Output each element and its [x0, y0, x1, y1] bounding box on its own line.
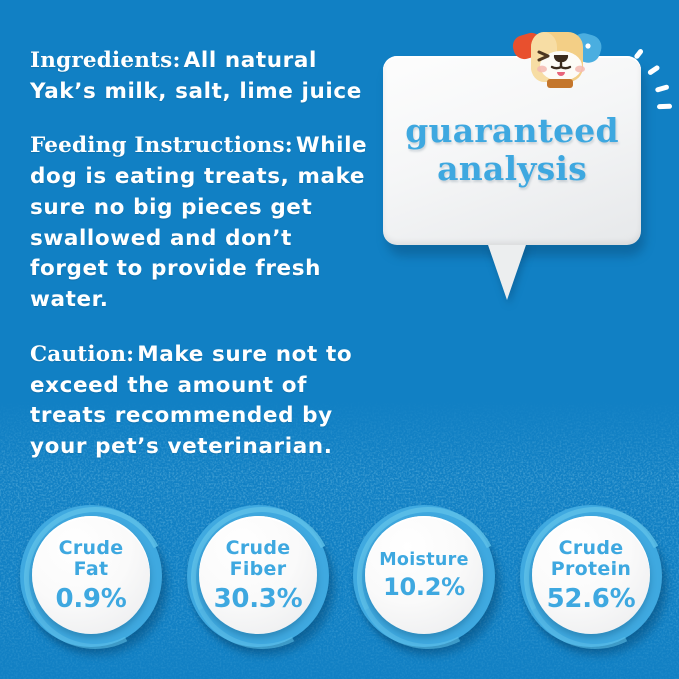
nutrition-circle-crude-fat: Crude Fat 0.9% — [20, 505, 166, 651]
ingredient-copy-column: Ingredients:All natural Yak’s milk, salt… — [30, 46, 370, 463]
ingredients-text: Ingredients:All natural Yak’s milk, salt… — [30, 46, 370, 107]
nutrient-name: Crude Fiber — [226, 538, 291, 579]
bubble-title-line2: analysis — [383, 150, 641, 188]
nutrient-value: 0.9% — [56, 586, 127, 612]
nutrition-circle-crude-fiber: Crude Fiber 30.3% — [187, 505, 333, 651]
nutrition-circle-moisture: Moisture 10.2% — [353, 505, 499, 651]
ingredients-heading: Ingredients: — [30, 48, 181, 73]
nutrition-circle-crude-protein: Crude Protein 52.6% — [520, 505, 666, 651]
feeding-instructions-heading: Feeding Instructions: — [30, 133, 293, 158]
caution-block: Caution:Make sure not to exceed the amou… — [30, 340, 370, 463]
circle-disc: Moisture 10.2% — [365, 516, 483, 634]
nutrient-value: 52.6% — [547, 586, 636, 612]
feeding-instructions-block: Feeding Instructions:While dog is eating… — [30, 131, 370, 315]
sparkle-dashes-icon — [629, 42, 679, 122]
bubble-title-line1: guaranteed — [383, 112, 641, 150]
nutrient-name: Crude Fat — [59, 538, 124, 579]
bubble-title: guaranteed analysis — [383, 112, 641, 189]
nutrient-value: 10.2% — [383, 575, 465, 599]
circle-disc: Crude Protein 52.6% — [532, 516, 650, 634]
guaranteed-analysis-values: Crude Fat 0.9% Crude Fiber 30.3% Moistur… — [0, 505, 679, 655]
bubble-tail — [487, 242, 527, 300]
nutrient-value: 30.3% — [214, 586, 303, 612]
caution-text: Caution:Make sure not to exceed the amou… — [30, 340, 370, 463]
feeding-instructions-body: While dog is eating treats, make sure no… — [30, 133, 367, 312]
dog-mascot-icon — [509, 30, 605, 88]
nutrient-name: Moisture — [379, 551, 469, 570]
circle-disc: Crude Fat 0.9% — [32, 516, 150, 634]
caution-heading: Caution: — [30, 342, 134, 367]
nutrient-name: Crude Protein — [551, 538, 631, 579]
feeding-instructions-text: Feeding Instructions:While dog is eating… — [30, 131, 370, 315]
ingredients-block: Ingredients:All natural Yak’s milk, salt… — [30, 46, 370, 107]
circle-disc: Crude Fiber 30.3% — [199, 516, 317, 634]
pet-treat-label: Ingredients:All natural Yak’s milk, salt… — [0, 0, 679, 679]
